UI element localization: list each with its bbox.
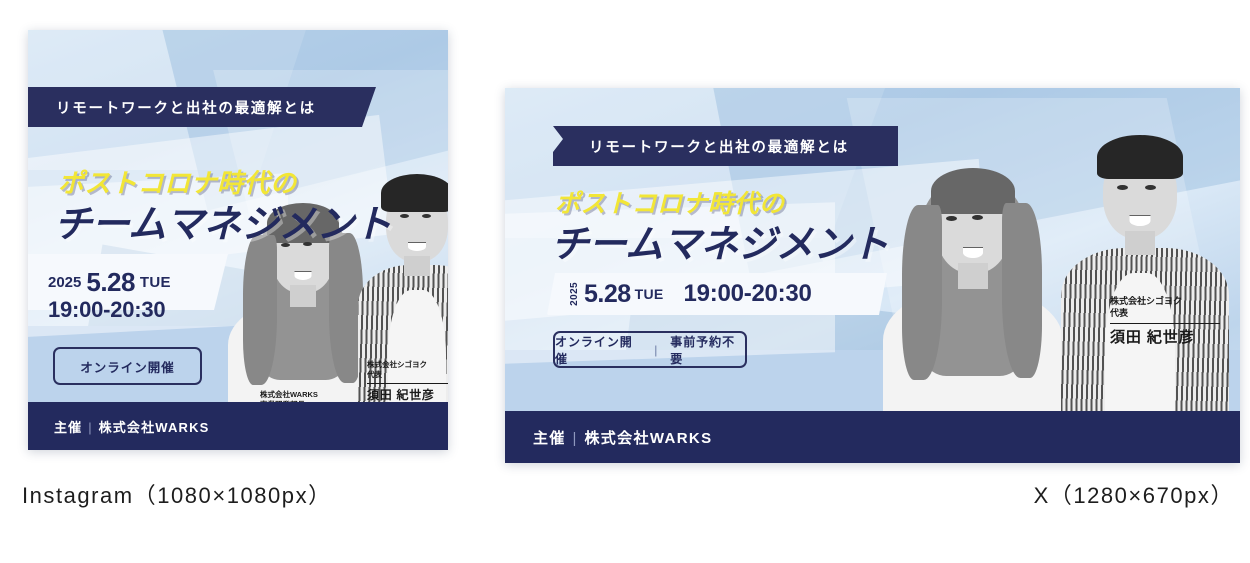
date-time: 19:00-20:30: [48, 297, 165, 322]
title-main: チームマネジメント: [54, 193, 391, 248]
footer-bar-sep: |: [572, 430, 577, 447]
footer-text: 主催|株式会社WARKS: [533, 427, 712, 448]
date-day: 5.28: [584, 280, 631, 309]
date-dow: TUE: [635, 286, 664, 302]
tag-no-reservation-label: 事前予約不要: [670, 333, 745, 367]
tag-online-label: オンライン開催: [80, 357, 175, 376]
title-main: チームマネジメント: [551, 213, 888, 268]
caption-x: X（1280×670px）: [1034, 478, 1234, 510]
tag-group[interactable]: オンライン開催 | 事前予約不要: [553, 331, 747, 368]
tag-online-label: オンライン開催: [555, 333, 642, 367]
tag-online[interactable]: オンライン開催: [53, 347, 202, 385]
x-banner[interactable]: リモートワークと出社の最適解とは ポストコロナ時代の チームマネジメント 202…: [505, 88, 1240, 463]
speaker-2-name: 須田 紀世彦: [367, 386, 448, 403]
footer-organizer: 株式会社WARKS: [584, 430, 712, 447]
speaker-2-name: 須田 紀世彦: [1110, 326, 1220, 347]
date-year: 2025: [569, 282, 580, 306]
name-rule: [367, 383, 448, 384]
date-day: 5.28: [86, 267, 135, 298]
tag-separator: |: [654, 343, 658, 357]
speaker-2-role: 代表: [367, 370, 382, 379]
instagram-banner[interactable]: リモートワークと出社の最適解とは ポストコロナ時代の チームマネジメント 202…: [28, 30, 448, 450]
date-time: 19:00-20:30: [684, 280, 812, 308]
ribbon-text: リモートワークと出社の最適解とは: [589, 136, 849, 157]
date-plate: 2025 5.28 TUE 19:00-20:30: [547, 273, 909, 315]
caption-instagram: Instagram（1080×1080px）: [22, 478, 332, 510]
speaker-2-company: 株式会社シゴヨク: [367, 360, 427, 369]
ribbon-text: リモートワークと出社の最適解とは: [56, 97, 316, 118]
speaker-1-company: 株式会社WARKS: [260, 390, 318, 399]
footer-organizer: 株式会社WARKS: [99, 420, 210, 435]
ribbon-banner: リモートワークと出社の最適解とは: [553, 126, 934, 166]
footer-label: 主催: [533, 430, 566, 447]
date-dow: TUE: [140, 274, 171, 291]
mockup-stage: リモートワークと出社の最適解とは ポストコロナ時代の チームマネジメント 202…: [0, 0, 1250, 563]
footer-bar: 主催|株式会社WARKS: [505, 411, 1240, 463]
name-card-suda: 株式会社シゴヨク 代表 須田 紀世彦: [367, 360, 448, 403]
date-time-wrap: 19:00-20:30: [48, 297, 165, 323]
ribbon-banner: リモートワークと出社の最適解とは: [28, 87, 418, 127]
speaker-2-company: 株式会社シゴヨク: [1110, 296, 1182, 306]
footer-text: 主催|株式会社WARKS: [54, 417, 210, 436]
speaker-2-role: 代表: [1110, 308, 1128, 318]
name-rule: [1110, 323, 1220, 324]
date-year: 2025: [48, 274, 81, 291]
name-card-suda: 株式会社シゴヨク 代表 須田 紀世彦: [1110, 296, 1220, 347]
footer-bar: 主催|株式会社WARKS: [28, 402, 448, 450]
footer-label: 主催: [54, 420, 82, 435]
footer-bar-sep: |: [88, 420, 93, 435]
